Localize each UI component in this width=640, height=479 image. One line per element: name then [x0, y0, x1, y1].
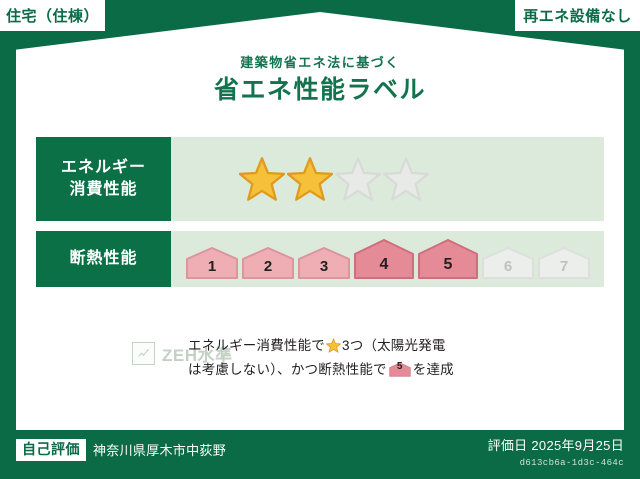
zeh-chart-icon [132, 342, 155, 365]
insulation-grade-6: 6 [481, 246, 535, 280]
inline-grade-value: 5 [389, 358, 411, 376]
star-empty-icon [383, 156, 429, 202]
grade-value: 6 [481, 258, 535, 275]
row-energy-body [171, 137, 604, 221]
insulation-grade-1: 1 [185, 246, 239, 280]
zeh-note: ZEH水準 エネルギー消費性能で3つ（太陽光発電 は考慮しない）、かつ断熱性能で… [36, 334, 606, 381]
star-empty-icon [335, 156, 381, 202]
insulation-grade-scale: 1234567 [185, 238, 591, 280]
insulation-grade-5: 5 [417, 238, 479, 280]
note-line1-a: エネルギー消費性能で [188, 338, 325, 353]
row-insulation-body: 1234567 [171, 231, 604, 287]
insulation-grade-3: 3 [297, 246, 351, 280]
self-evaluation-badge: 自己評価 [16, 439, 86, 461]
insulation-grade-7: 7 [537, 246, 591, 280]
row-energy-performance: エネルギー 消費性能 [36, 137, 604, 221]
grade-value: 7 [537, 258, 591, 275]
note-line2-b: を達成 [413, 362, 454, 377]
grade-value: 5 [417, 256, 479, 274]
note-line1-b: 3つ（太陽光発電 [342, 338, 446, 353]
evaluation-date: 評価日 2025年9月25日 [488, 435, 624, 454]
inline-star-icon [326, 338, 341, 353]
grade-value: 3 [297, 258, 351, 275]
grade-value: 2 [241, 258, 295, 275]
footer-left: 自己評価 神奈川県厚木市中荻野 [16, 439, 226, 461]
insulation-grade-4: 4 [353, 238, 415, 280]
row-energy-label: エネルギー 消費性能 [36, 137, 171, 221]
tag-renewable-equipment: 再エネ設備なし [515, 0, 640, 31]
performance-rows: エネルギー 消費性能 断熱性能 1234567 [36, 137, 604, 297]
star-filled-icon [239, 156, 285, 202]
zeh-standard-indicator: ZEH水準 [36, 334, 174, 366]
row-insulation-performance: 断熱性能 1234567 [36, 231, 604, 287]
insulation-grade-2: 2 [241, 246, 295, 280]
property-address: 神奈川県厚木市中荻野 [93, 440, 226, 459]
energy-performance-label: 住宅（住棟） 再エネ設備なし 建築物省エネ法に基づく 省エネ性能ラベル エネルギ… [0, 0, 640, 479]
title-subtitle: 建築物省エネ法に基づく [0, 56, 640, 69]
page-title: 建築物省エネ法に基づく 省エネ性能ラベル [0, 56, 640, 103]
row-insulation-label: 断熱性能 [36, 231, 171, 287]
row-energy-label-line1: エネルギー [61, 157, 146, 179]
star-filled-icon [287, 156, 333, 202]
zeh-description: エネルギー消費性能で3つ（太陽光発電 は考慮しない）、かつ断熱性能で5を達成 [174, 334, 454, 381]
row-energy-label-line2: 消費性能 [69, 179, 137, 201]
star-rating [239, 156, 429, 202]
tag-building-type: 住宅（住棟） [0, 0, 105, 31]
footer-right: 評価日 2025年9月25日 d613cb6a-1d3c-464c [488, 435, 624, 468]
evaluation-id: d613cb6a-1d3c-464c [488, 458, 624, 468]
note-line2-a: は考慮しない）、かつ断熱性能で [188, 362, 387, 377]
grade-value: 4 [353, 256, 415, 274]
title-main: 省エネ性能ラベル [0, 78, 640, 103]
label-footer: 自己評価 神奈川県厚木市中荻野 評価日 2025年9月25日 d613cb6a-… [0, 430, 640, 479]
grade-value: 1 [185, 258, 239, 275]
inline-grade-badge: 5 [389, 361, 411, 376]
